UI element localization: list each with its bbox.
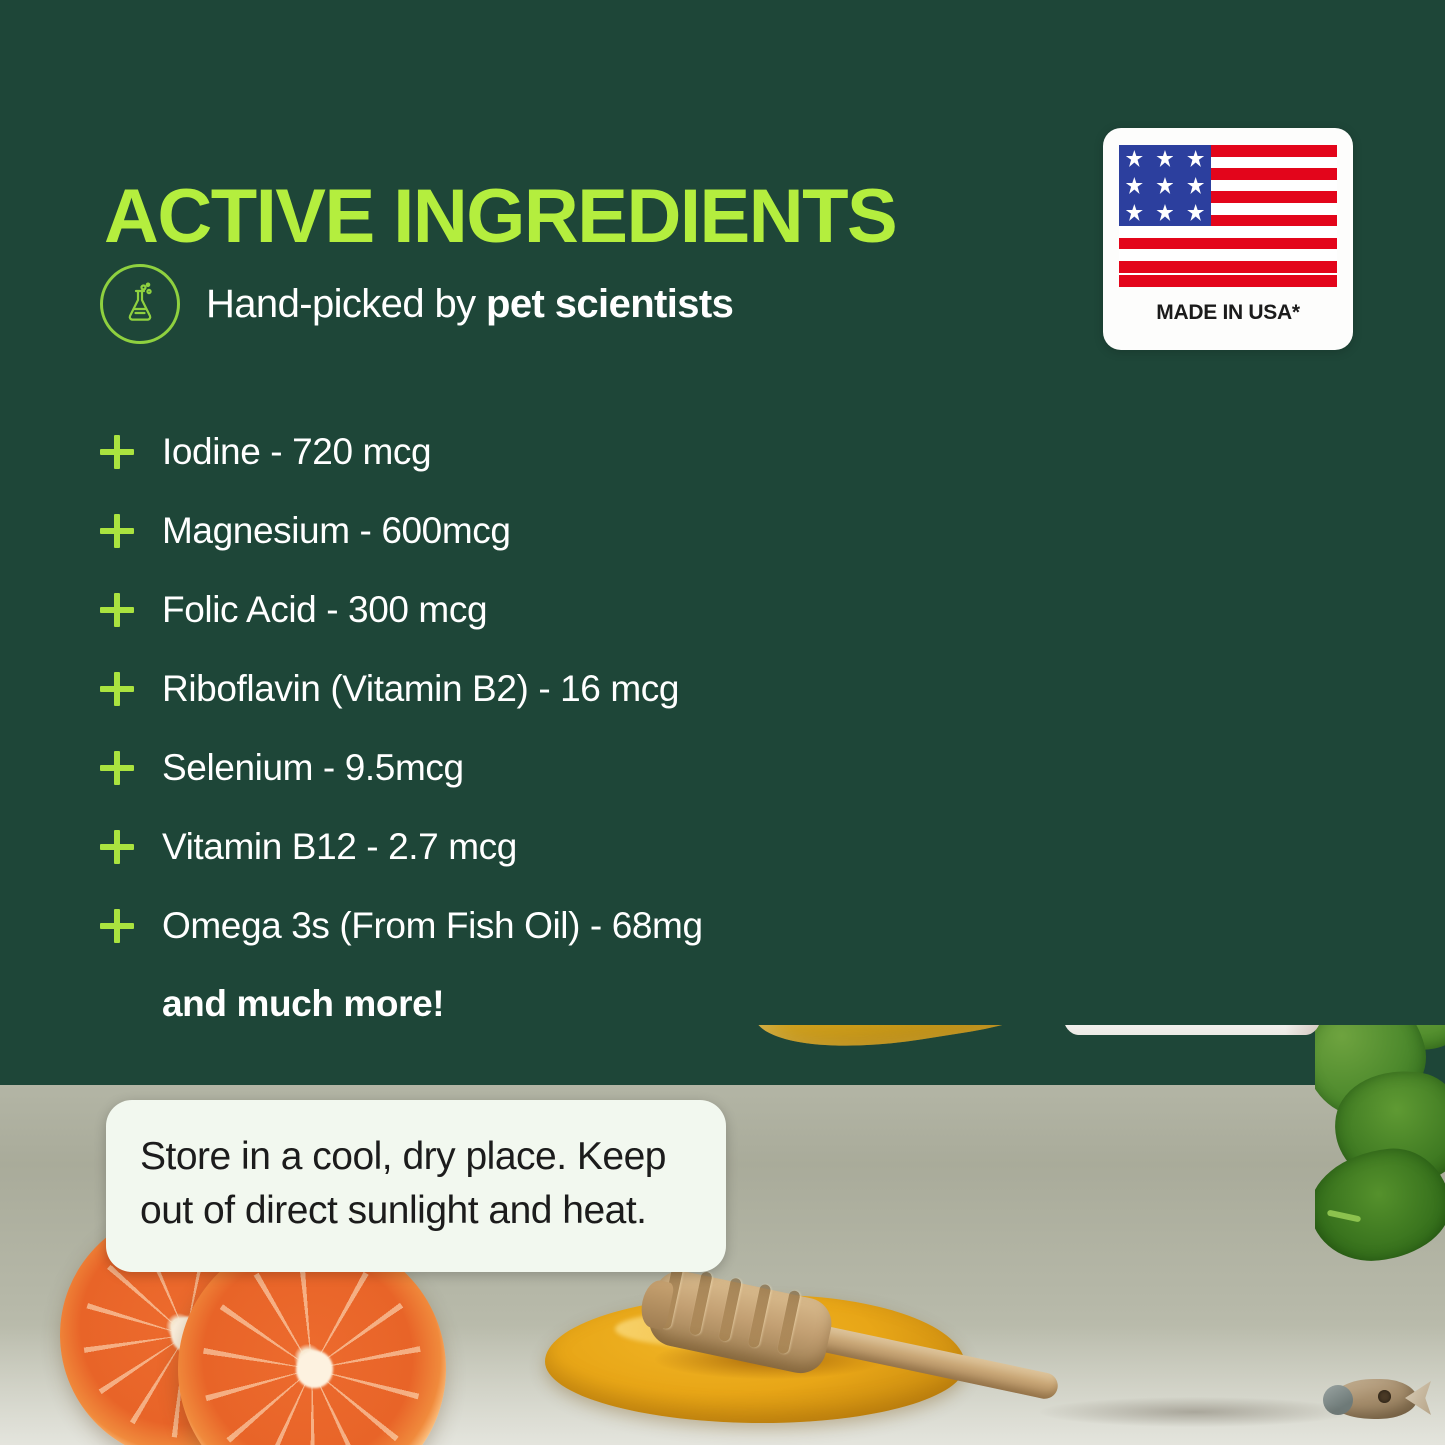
leaf: [1315, 1143, 1445, 1267]
plus-icon: [100, 672, 134, 706]
ingredient-row: Selenium - 9.5mcg: [100, 728, 1000, 807]
flag-star: [1187, 204, 1204, 221]
subtitle-text: Hand-picked by pet scientists: [206, 282, 733, 327]
plus-icon: [100, 751, 134, 785]
ingredient-row: Magnesium - 600mcg: [100, 491, 1000, 570]
ingredient-list: Iodine - 720 mcg Magnesium - 600mcg Foli…: [100, 412, 1000, 1025]
made-in-usa-badge: MADE IN USA*: [1103, 128, 1353, 350]
flag-stripe: [1119, 261, 1337, 273]
ingredient-label: Magnesium - 600mcg: [162, 510, 511, 552]
ingredient-label: Vitamin B12 - 2.7 mcg: [162, 826, 517, 868]
flag-star: [1156, 204, 1173, 221]
ingredient-row: Omega 3s (From Fish Oil) - 68mg: [100, 886, 1000, 965]
ingredient-label: Omega 3s (From Fish Oil) - 68mg: [162, 905, 703, 947]
jar-label: All dog sizes: [1063, 1025, 1321, 1035]
subtitle-prefix: Hand-picked by: [206, 282, 486, 326]
product-infographic: All dog sizes: [0, 0, 1445, 1445]
ingredient-row: Riboflavin (Vitamin B2) - 16 mcg: [100, 649, 1000, 728]
ingredient-label: Riboflavin (Vitamin B2) - 16 mcg: [162, 668, 679, 710]
storage-note-callout: Store in a cool, dry place. Keep out of …: [106, 1100, 726, 1272]
plus-icon: [100, 514, 134, 548]
fish-eye: [1378, 1390, 1391, 1403]
ingredient-row: Vitamin B12 - 2.7 mcg: [100, 807, 1000, 886]
orange-segments: [191, 1248, 433, 1445]
and-much-more-text: and much more!: [162, 983, 1000, 1025]
jar-base: [1063, 1025, 1321, 1035]
spinach-leaves: [1315, 1025, 1445, 1305]
storage-note-text: Store in a cool, dry place. Keep out of …: [140, 1130, 692, 1238]
plus-icon: [100, 909, 134, 943]
plus-icon: [100, 435, 134, 469]
flag-star: [1187, 150, 1204, 167]
jar-shadow: [1040, 1397, 1350, 1427]
flag-star: [1156, 150, 1173, 167]
flag-star: [1156, 177, 1173, 194]
made-in-usa-caption: MADE IN USA*: [1119, 301, 1337, 325]
flag-star: [1187, 177, 1204, 194]
flag-canton: [1119, 145, 1211, 226]
plus-icon: [100, 830, 134, 864]
product-jar: All dog sizes: [1053, 1025, 1331, 1035]
subtitle-row: Hand-picked by pet scientists: [100, 264, 733, 344]
flag-star: [1126, 177, 1143, 194]
ingredient-label: Iodine - 720 mcg: [162, 431, 431, 473]
banana: [740, 1025, 1100, 1053]
flag-stripe: [1119, 238, 1337, 250]
usa-flag-icon: [1119, 145, 1337, 287]
flag-star: [1126, 204, 1143, 221]
flag-stripe: [1119, 275, 1337, 287]
ingredient-label: Selenium - 9.5mcg: [162, 747, 464, 789]
flask-icon: [100, 264, 180, 344]
plus-icon: [100, 593, 134, 627]
ingredient-row: Iodine - 720 mcg: [100, 412, 1000, 491]
ingredient-label: Folic Acid - 300 mcg: [162, 589, 487, 631]
subtitle-emphasis: pet scientists: [486, 282, 733, 326]
ingredient-row: Folic Acid - 300 mcg: [100, 570, 1000, 649]
dipper-handle: [808, 1323, 1060, 1401]
flag-star: [1126, 150, 1143, 167]
page-title: ACTIVE INGREDIENTS: [104, 179, 896, 255]
